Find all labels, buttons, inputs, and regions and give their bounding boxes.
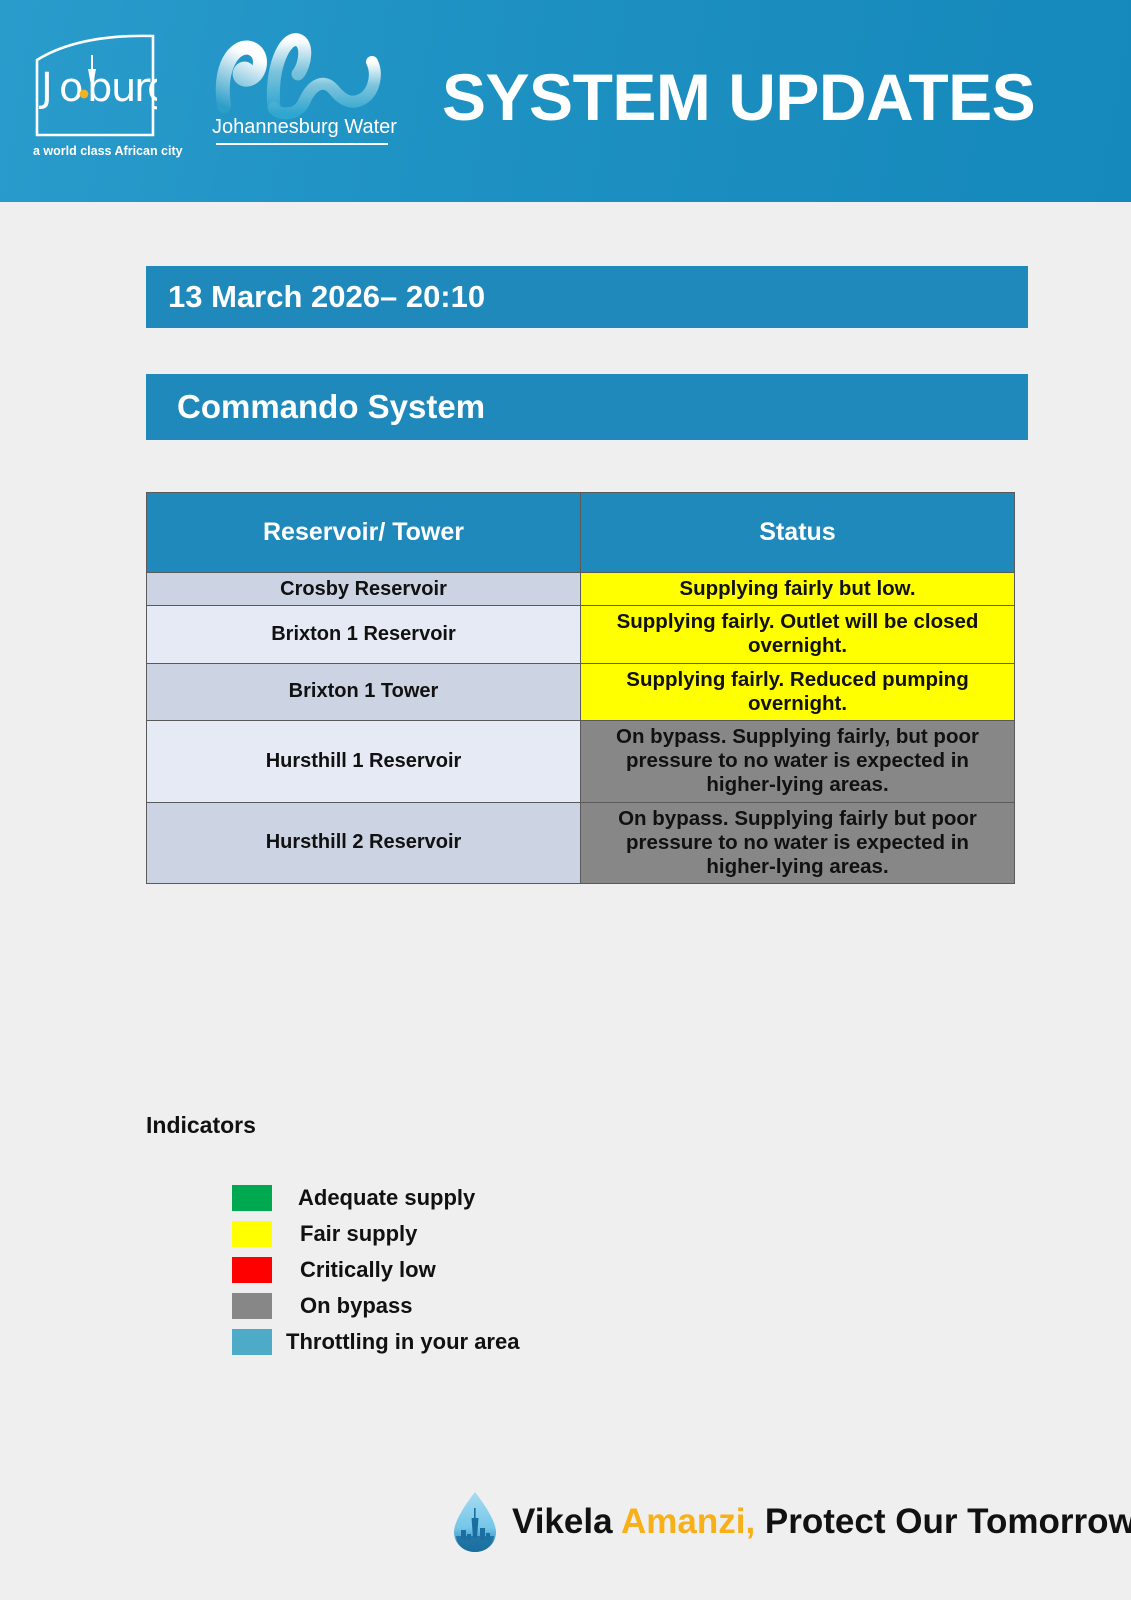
legend-item: On bypass [232, 1288, 832, 1324]
column-header-status: Status [581, 493, 1015, 573]
table-row: Hursthill 1 ReservoirOn bypass. Supplyin… [147, 720, 1015, 802]
table-row: Brixton 1 TowerSupplying fairly. Reduced… [147, 663, 1015, 720]
legend-item: Fair supply [232, 1216, 832, 1252]
header-logos: J o b u r g a world class African city [27, 22, 402, 182]
reservoir-name-cell: Hursthill 2 Reservoir [147, 802, 581, 884]
page-title: SYSTEM UPDATES [442, 59, 1035, 135]
reservoir-name-cell: Brixton 1 Reservoir [147, 606, 581, 663]
joburg-wordmark-icon: J o b u r g [35, 51, 157, 121]
status-cell: Supplying fairly. Reduced pumping overni… [581, 663, 1015, 720]
legend-color-swatch [232, 1221, 272, 1247]
johannesburg-water-logo: Johannesburg Water [212, 28, 402, 178]
status-cell: Supplying fairly but low. [581, 573, 1015, 606]
footer-text: Vikela Amanzi, Protect Our Tomorrow [512, 1502, 1131, 1542]
footer-accent-text: Amanzi, [621, 1502, 755, 1541]
date-banner: 13 March 2026– 20:10 [146, 266, 1028, 328]
joburg-tagline: a world class African city [33, 144, 173, 158]
table-row: Brixton 1 ReservoirSupplying fairly. Out… [147, 606, 1015, 663]
reservoir-name-cell: Crosby Reservoir [147, 573, 581, 606]
footer-tagline: Vikela Amanzi, Protect Our Tomorrow [452, 1490, 1131, 1554]
joburg-wordmark-group: J o b u r g [35, 34, 157, 137]
jw-underline [216, 143, 388, 145]
svg-text:u: u [111, 65, 136, 111]
legend-color-swatch [232, 1185, 272, 1211]
system-banner: Commando System [146, 374, 1028, 440]
status-cell: On bypass. Supplying fairly but poor pre… [581, 802, 1015, 884]
indicators-title: Indicators [146, 1112, 256, 1139]
legend-item: Adequate supply [232, 1180, 832, 1216]
column-header-reservoir: Reservoir/ Tower [147, 493, 581, 573]
legend-label: Fair supply [300, 1221, 417, 1247]
svg-text:g: g [147, 65, 157, 111]
water-drop-city-icon [452, 1490, 498, 1554]
page-header: J o b u r g a world class African city [0, 0, 1131, 202]
indicators-legend: Adequate supplyFair supplyCritically low… [232, 1180, 832, 1360]
table-row: Crosby ReservoirSupplying fairly but low… [147, 573, 1015, 606]
legend-item: Throttling in your area [232, 1324, 832, 1360]
legend-label: Adequate supply [298, 1185, 475, 1211]
legend-label: On bypass [300, 1293, 412, 1319]
status-table: Reservoir/ Tower Status Crosby Reservoir… [146, 492, 1015, 884]
svg-text:J: J [38, 65, 53, 111]
legend-color-swatch [232, 1329, 272, 1355]
table-body: Crosby ReservoirSupplying fairly but low… [147, 573, 1015, 884]
joburg-logo: J o b u r g a world class African city [27, 22, 167, 182]
legend-color-swatch [232, 1293, 272, 1319]
svg-text:o: o [59, 65, 83, 111]
status-cell: On bypass. Supplying fairly, but poor pr… [581, 720, 1015, 802]
legend-item: Critically low [232, 1252, 832, 1288]
footer-text-after: Protect Our Tomorrow [755, 1502, 1131, 1541]
johannesburg-water-label: Johannesburg Water [212, 116, 392, 139]
legend-label: Critically low [300, 1257, 436, 1283]
legend-label: Throttling in your area [286, 1329, 519, 1355]
table-header-row: Reservoir/ Tower Status [147, 493, 1015, 573]
status-cell: Supplying fairly. Outlet will be closed … [581, 606, 1015, 663]
water-wave-icon [212, 28, 387, 120]
reservoir-name-cell: Brixton 1 Tower [147, 663, 581, 720]
legend-color-swatch [232, 1257, 272, 1283]
table-row: Hursthill 2 ReservoirOn bypass. Supplyin… [147, 802, 1015, 884]
reservoir-name-cell: Hursthill 1 Reservoir [147, 720, 581, 802]
table-head: Reservoir/ Tower Status [147, 493, 1015, 573]
footer-text-before: Vikela [512, 1502, 621, 1541]
